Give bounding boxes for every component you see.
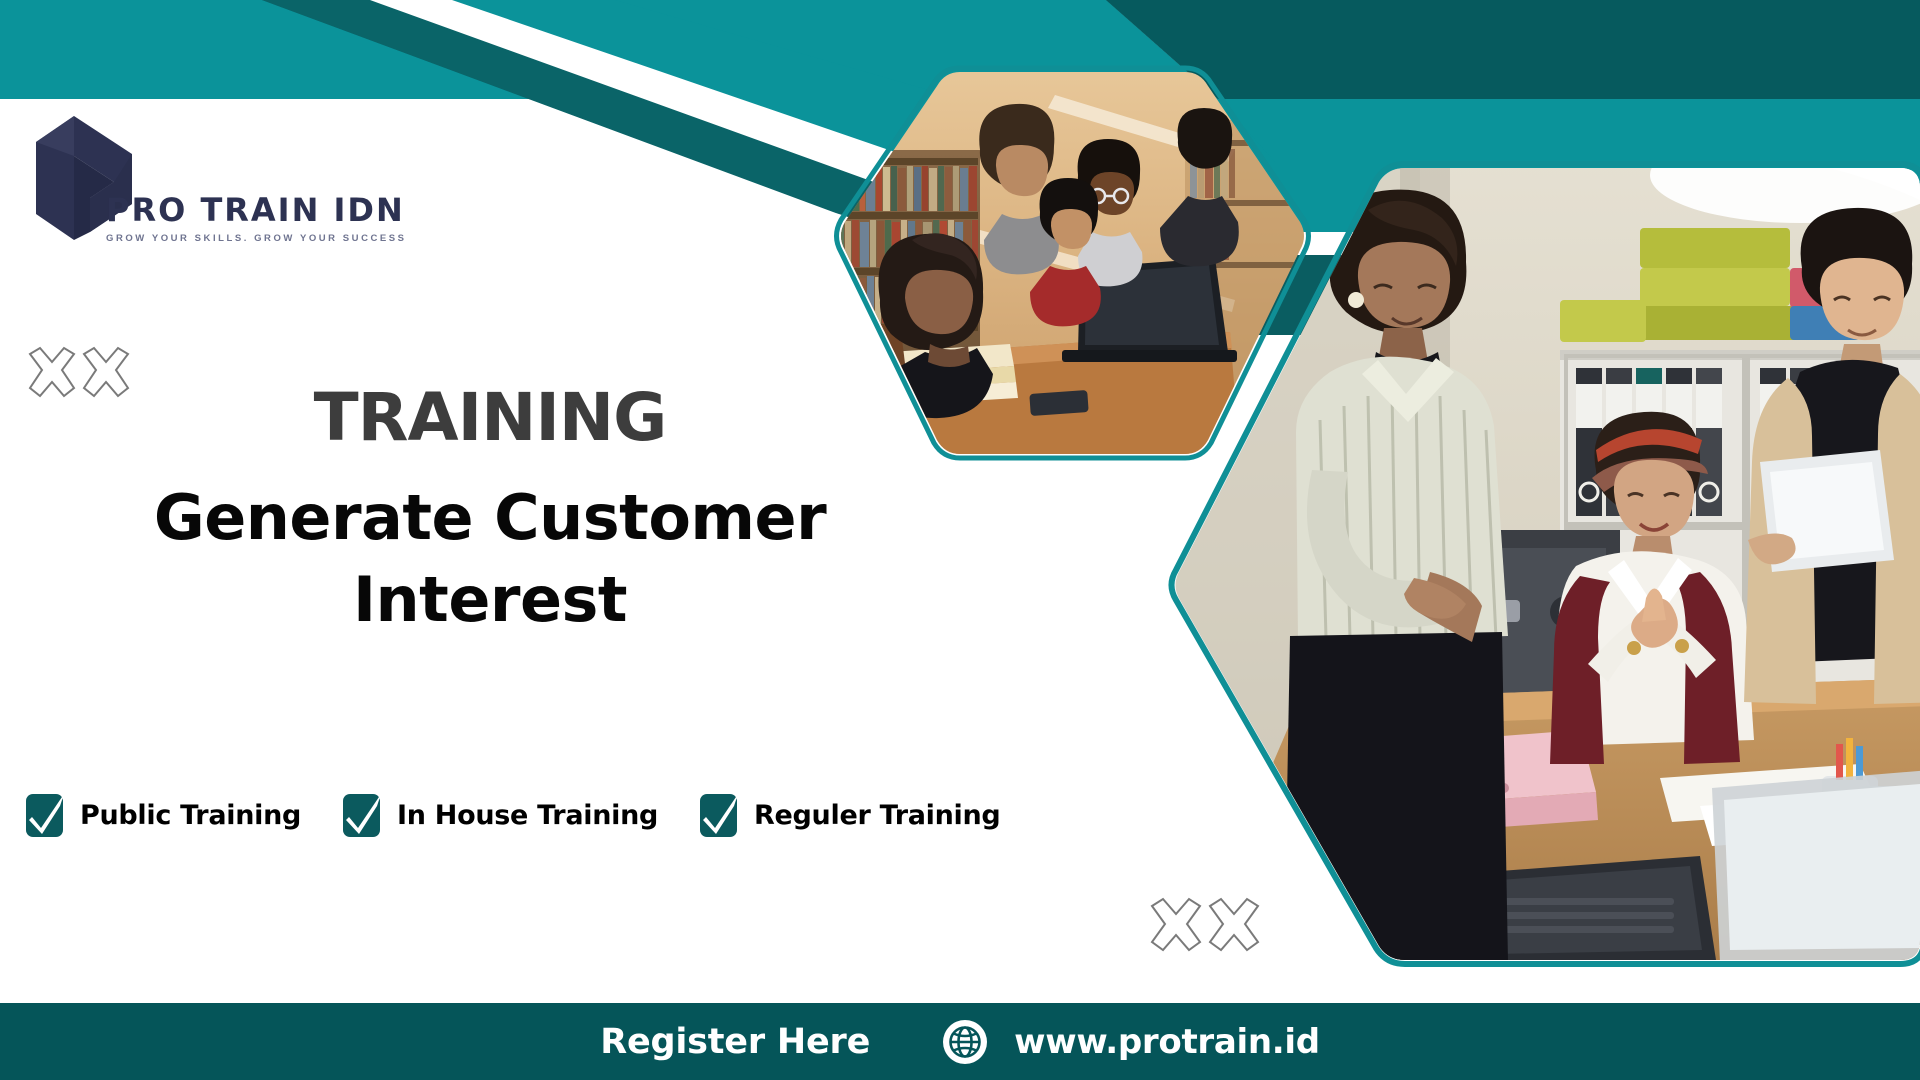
checklist-item-label: In House Training bbox=[397, 800, 658, 831]
x-cross-decoration-bottom bbox=[1146, 894, 1264, 956]
checkbox-checked-icon[interactable] bbox=[341, 790, 383, 840]
poster-canvas: PRO TRAIN IDN GROW YOUR SKILLS. GROW YOU… bbox=[0, 0, 1920, 1080]
hero-text-block: TRAINING Generate Customer Interest bbox=[0, 385, 980, 641]
hero-eyebrow: TRAINING bbox=[0, 385, 980, 451]
checklist-item[interactable]: Reguler Training bbox=[698, 790, 1000, 840]
logo-name: PRO TRAIN IDN bbox=[106, 194, 406, 226]
checkbox-checked-icon[interactable] bbox=[24, 790, 66, 840]
checklist-item[interactable]: In House Training bbox=[341, 790, 658, 840]
brand-logo: PRO TRAIN IDN GROW YOUR SKILLS. GROW YOU… bbox=[28, 112, 398, 282]
footer-bar: Register Here www.protrain.id bbox=[0, 1003, 1920, 1080]
globe-icon bbox=[942, 1019, 988, 1065]
register-here-label: Register Here bbox=[600, 1022, 870, 1062]
logo-tagline: GROW YOUR SKILLS. GROW YOUR SUCCESS bbox=[106, 233, 406, 244]
checklist-item-label: Reguler Training bbox=[754, 800, 1000, 831]
website-url[interactable]: www.protrain.id bbox=[1014, 1022, 1320, 1062]
checklist-item[interactable]: Public Training bbox=[24, 790, 301, 840]
checkbox-checked-icon[interactable] bbox=[698, 790, 740, 840]
checklist-item-label: Public Training bbox=[80, 800, 301, 831]
training-type-list: Public Training In House Training Regule… bbox=[24, 790, 1000, 840]
logo-wordmark: PRO TRAIN IDN GROW YOUR SKILLS. GROW YOU… bbox=[106, 194, 406, 244]
footer-content: Register Here www.protrain.id bbox=[600, 1019, 1320, 1065]
hero-headline: Generate Customer Interest bbox=[0, 477, 980, 641]
